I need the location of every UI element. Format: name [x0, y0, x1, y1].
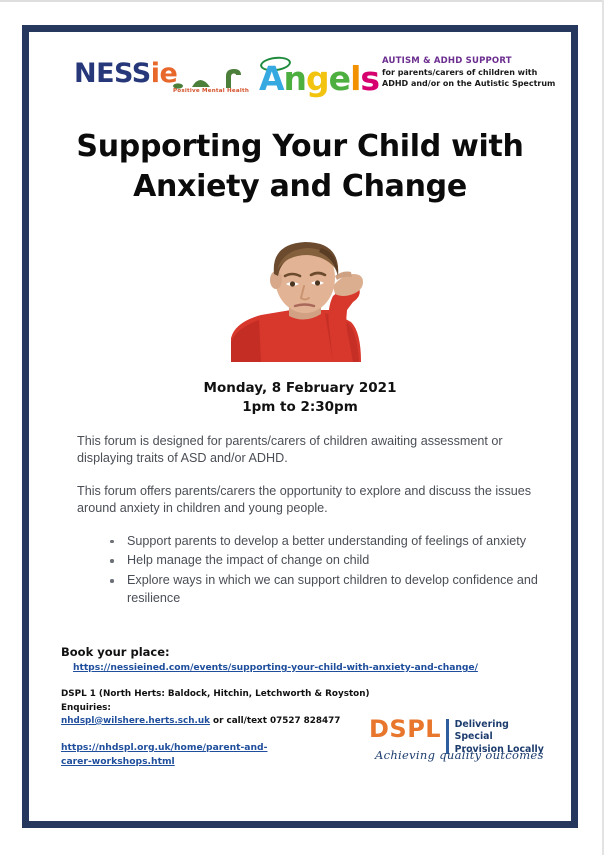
- dspl-logo: DSPL Delivering Special Provision Locall…: [369, 717, 547, 773]
- angels-letter-g: g: [306, 59, 329, 98]
- autism-support-block: AUTISM & ADHD SUPPORT for parents/carers…: [382, 56, 557, 89]
- event-time: 1pm to 2:30pm: [29, 398, 571, 417]
- enquiries-label: Enquiries:: [61, 702, 481, 715]
- angels-letter-l: l: [350, 59, 360, 98]
- flyer-title-line2: Anxiety and Change: [29, 167, 571, 207]
- event-date: Monday, 8 February 2021: [29, 379, 571, 398]
- angels-letter-a: A: [259, 59, 284, 98]
- flyer-page: NESSie Positive Mental Health Angels AUT…: [0, 0, 604, 855]
- page-border-frame: NESSie Positive Mental Health Angels AUT…: [22, 25, 578, 828]
- body-paragraph-1: This forum is designed for parents/carer…: [77, 433, 557, 468]
- angels-letter-s: s: [360, 59, 379, 98]
- objectives-list: Support parents to develop a better unde…: [77, 533, 557, 609]
- logo-header-row: NESSie Positive Mental Health Angels AUT…: [29, 50, 571, 112]
- booking-url-link[interactable]: https://nessieined.com/events/supporting…: [73, 661, 481, 674]
- angels-logo: Angels: [259, 54, 377, 108]
- flyer-title-line1: Supporting Your Child with: [29, 127, 571, 167]
- list-item: Help manage the impact of change on chil…: [127, 552, 557, 570]
- dspl-tagline-line1: Delivering Special: [455, 719, 547, 744]
- contact-email-link[interactable]: nhdspl@wilshere.herts.sch.uk: [61, 716, 210, 726]
- angels-letter-n: n: [284, 59, 307, 98]
- list-item: Support parents to develop a better unde…: [127, 533, 557, 551]
- contact-phone-text: or call/text 07527 828477: [210, 716, 340, 726]
- autism-support-title: AUTISM & ADHD SUPPORT: [382, 56, 557, 66]
- flyer-content: NESSie Positive Mental Health Angels AUT…: [29, 32, 571, 821]
- dspl-script-slogan: Achieving quality outcomes: [375, 748, 544, 762]
- list-item: Explore ways in which we can support chi…: [127, 572, 557, 608]
- flyer-body: This forum is designed for parents/carer…: [77, 433, 557, 610]
- flyer-title: Supporting Your Child with Anxiety and C…: [29, 127, 571, 207]
- autism-support-line1: for parents/carers of children with: [382, 68, 557, 79]
- dspl-area-line: DSPL 1 (North Herts: Baldock, Hitchin, L…: [61, 688, 481, 701]
- angels-letter-e: e: [329, 59, 350, 98]
- anxious-child-photo: [221, 230, 393, 362]
- booking-heading: Book your place:: [61, 645, 481, 659]
- nessie-wordmark: NESSie: [74, 60, 177, 87]
- body-paragraph-2: This forum offers parents/carers the opp…: [77, 483, 557, 518]
- autism-support-line2: ADHD and/or on the Autistic Spectrum: [382, 79, 557, 90]
- event-schedule: Monday, 8 February 2021 1pm to 2:30pm: [29, 379, 571, 418]
- nessie-logo: NESSie Positive Mental Health: [74, 58, 264, 106]
- nessie-tagline: Positive Mental Health: [173, 88, 249, 94]
- angels-wordmark: Angels: [259, 62, 379, 95]
- workshops-url-link[interactable]: https://nhdspl.org.uk/home/parent-and-ca…: [61, 741, 293, 769]
- nessie-word-part1: NESS: [74, 58, 151, 89]
